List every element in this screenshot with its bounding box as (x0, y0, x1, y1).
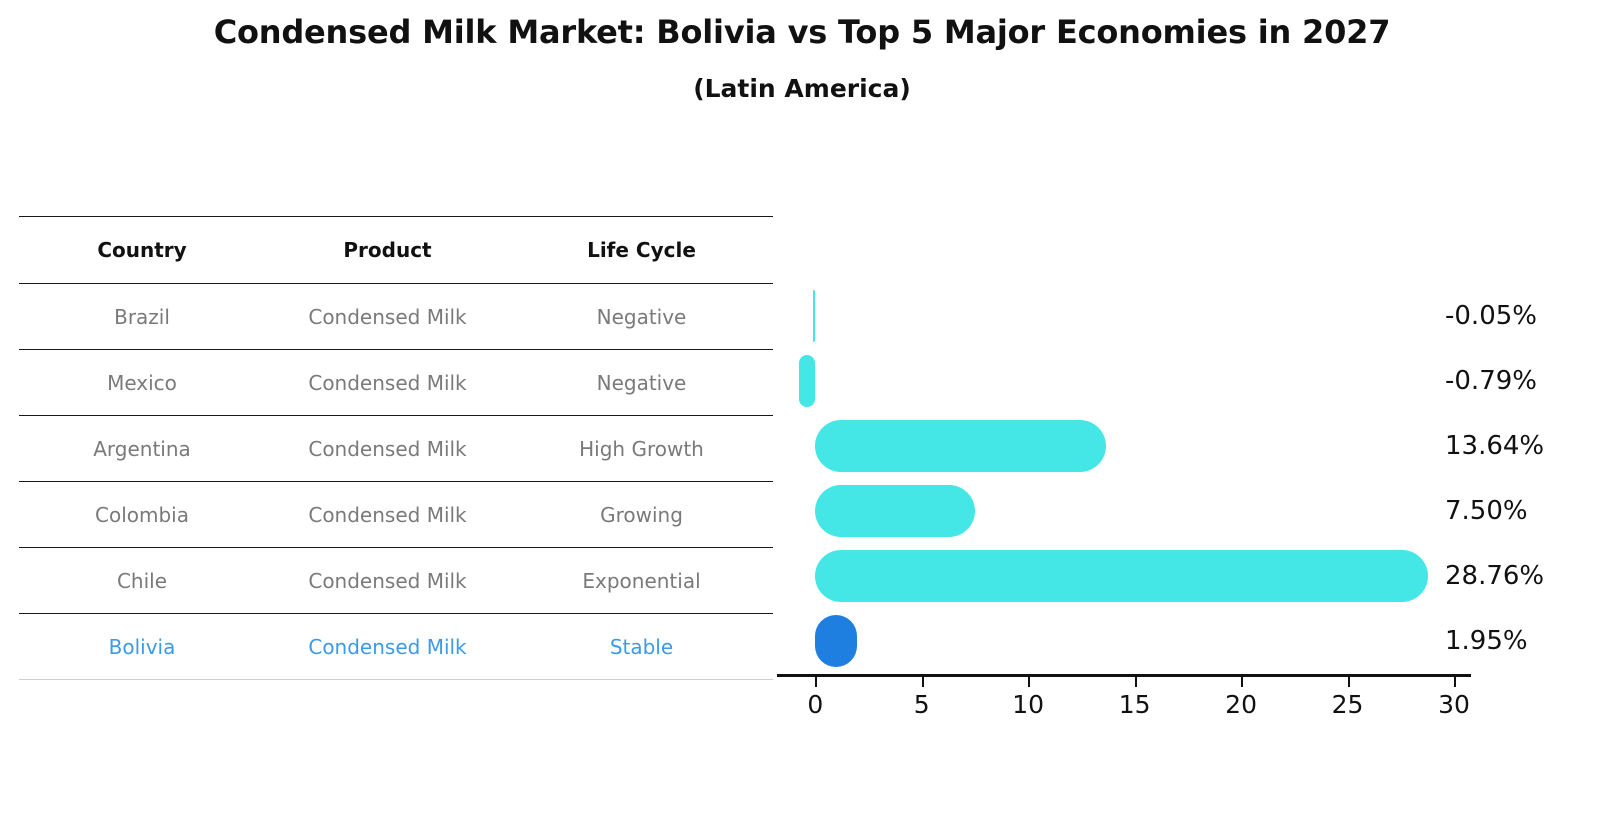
bar-value-label: -0.79% (1445, 366, 1537, 396)
bar-highlighted (815, 615, 857, 667)
x-axis-tick-label: 25 (1332, 690, 1364, 719)
table-body: Brazil Condensed Milk Negative Mexico Co… (19, 284, 773, 680)
x-axis-tick-label: 5 (914, 690, 930, 719)
column-header-life-cycle: Life Cycle (510, 217, 773, 284)
bar-value-label: -0.05% (1445, 301, 1537, 331)
bar-value-label: 7.50% (1445, 496, 1528, 526)
x-axis-line (777, 674, 1471, 677)
plot-area: -0.05%-0.79%13.64%7.50%28.76%1.95% (777, 216, 1587, 686)
cell-country: Colombia (19, 482, 265, 548)
table-row: Argentina Condensed Milk High Growth (19, 416, 773, 482)
x-axis-tick (1028, 677, 1030, 687)
x-axis-tick-label: 10 (1012, 690, 1044, 719)
bar-row: -0.05% (777, 283, 1587, 348)
table-row: Colombia Condensed Milk Growing (19, 482, 773, 548)
cell-product: Condensed Milk (265, 416, 510, 482)
cell-product: Condensed Milk (265, 284, 510, 350)
bar-row: 7.50% (777, 478, 1587, 543)
matrix: Country Product Life Cycle Brazil Conden… (19, 216, 773, 680)
table-header-row: Country Product Life Cycle (19, 217, 773, 284)
table-row: Chile Condensed Milk Exponential (19, 548, 773, 614)
cell-country: Argentina (19, 416, 265, 482)
cell-country: Bolivia (19, 614, 265, 680)
table-header: Country Product Life Cycle (19, 217, 773, 284)
page-title: Condensed Milk Market: Bolivia vs Top 5 … (0, 12, 1604, 52)
table-row: Mexico Condensed Milk Negative (19, 350, 773, 416)
x-axis-tick-label: 30 (1438, 690, 1470, 719)
column-header-country: Country (19, 217, 265, 284)
bar-row: 1.95% (777, 608, 1587, 673)
bar (815, 550, 1427, 602)
x-axis-tick (1241, 677, 1243, 687)
cell-life-cycle: Exponential (510, 548, 773, 614)
page-subtitle: (Latin America) (0, 74, 1604, 104)
bar-row: -0.79% (777, 348, 1587, 413)
x-axis-tick (815, 677, 817, 687)
bar-row: 13.64% (777, 413, 1587, 478)
cell-product: Condensed Milk (265, 548, 510, 614)
cell-product: Condensed Milk (265, 614, 510, 680)
bar-chart-panel: -0.05%-0.79%13.64%7.50%28.76%1.95% 05101… (777, 216, 1587, 686)
bar-value-label: 28.76% (1445, 561, 1544, 591)
cell-life-cycle: Negative (510, 284, 773, 350)
cell-product: Condensed Milk (265, 350, 510, 416)
table-row: Brazil Condensed Milk Negative (19, 284, 773, 350)
cell-life-cycle: Negative (510, 350, 773, 416)
cell-country: Mexico (19, 350, 265, 416)
x-axis-tick-label: 20 (1225, 690, 1257, 719)
bar (815, 485, 975, 537)
bar (799, 355, 816, 407)
cell-life-cycle: Growing (510, 482, 773, 548)
country-matrix-table: Country Product Life Cycle Brazil Conden… (19, 216, 773, 680)
x-axis-tick-label: 0 (807, 690, 823, 719)
cell-country: Chile (19, 548, 265, 614)
cell-life-cycle: Stable (510, 614, 773, 680)
cell-product: Condensed Milk (265, 482, 510, 548)
bar-row: 28.76% (777, 543, 1587, 608)
bar (815, 420, 1105, 472)
cell-country: Brazil (19, 284, 265, 350)
x-axis-tick (1135, 677, 1137, 687)
x-axis-tick (1348, 677, 1350, 687)
bar-value-label: 13.64% (1445, 431, 1544, 461)
bar-value-label: 1.95% (1445, 626, 1528, 656)
bar (813, 290, 815, 342)
cell-life-cycle: High Growth (510, 416, 773, 482)
x-axis-tick (1454, 677, 1456, 687)
title-block: Condensed Milk Market: Bolivia vs Top 5 … (0, 12, 1604, 104)
x-axis-tick-label: 15 (1119, 690, 1151, 719)
column-header-product: Product (265, 217, 510, 284)
table-row-highlighted: Bolivia Condensed Milk Stable (19, 614, 773, 680)
x-axis-tick (922, 677, 924, 687)
